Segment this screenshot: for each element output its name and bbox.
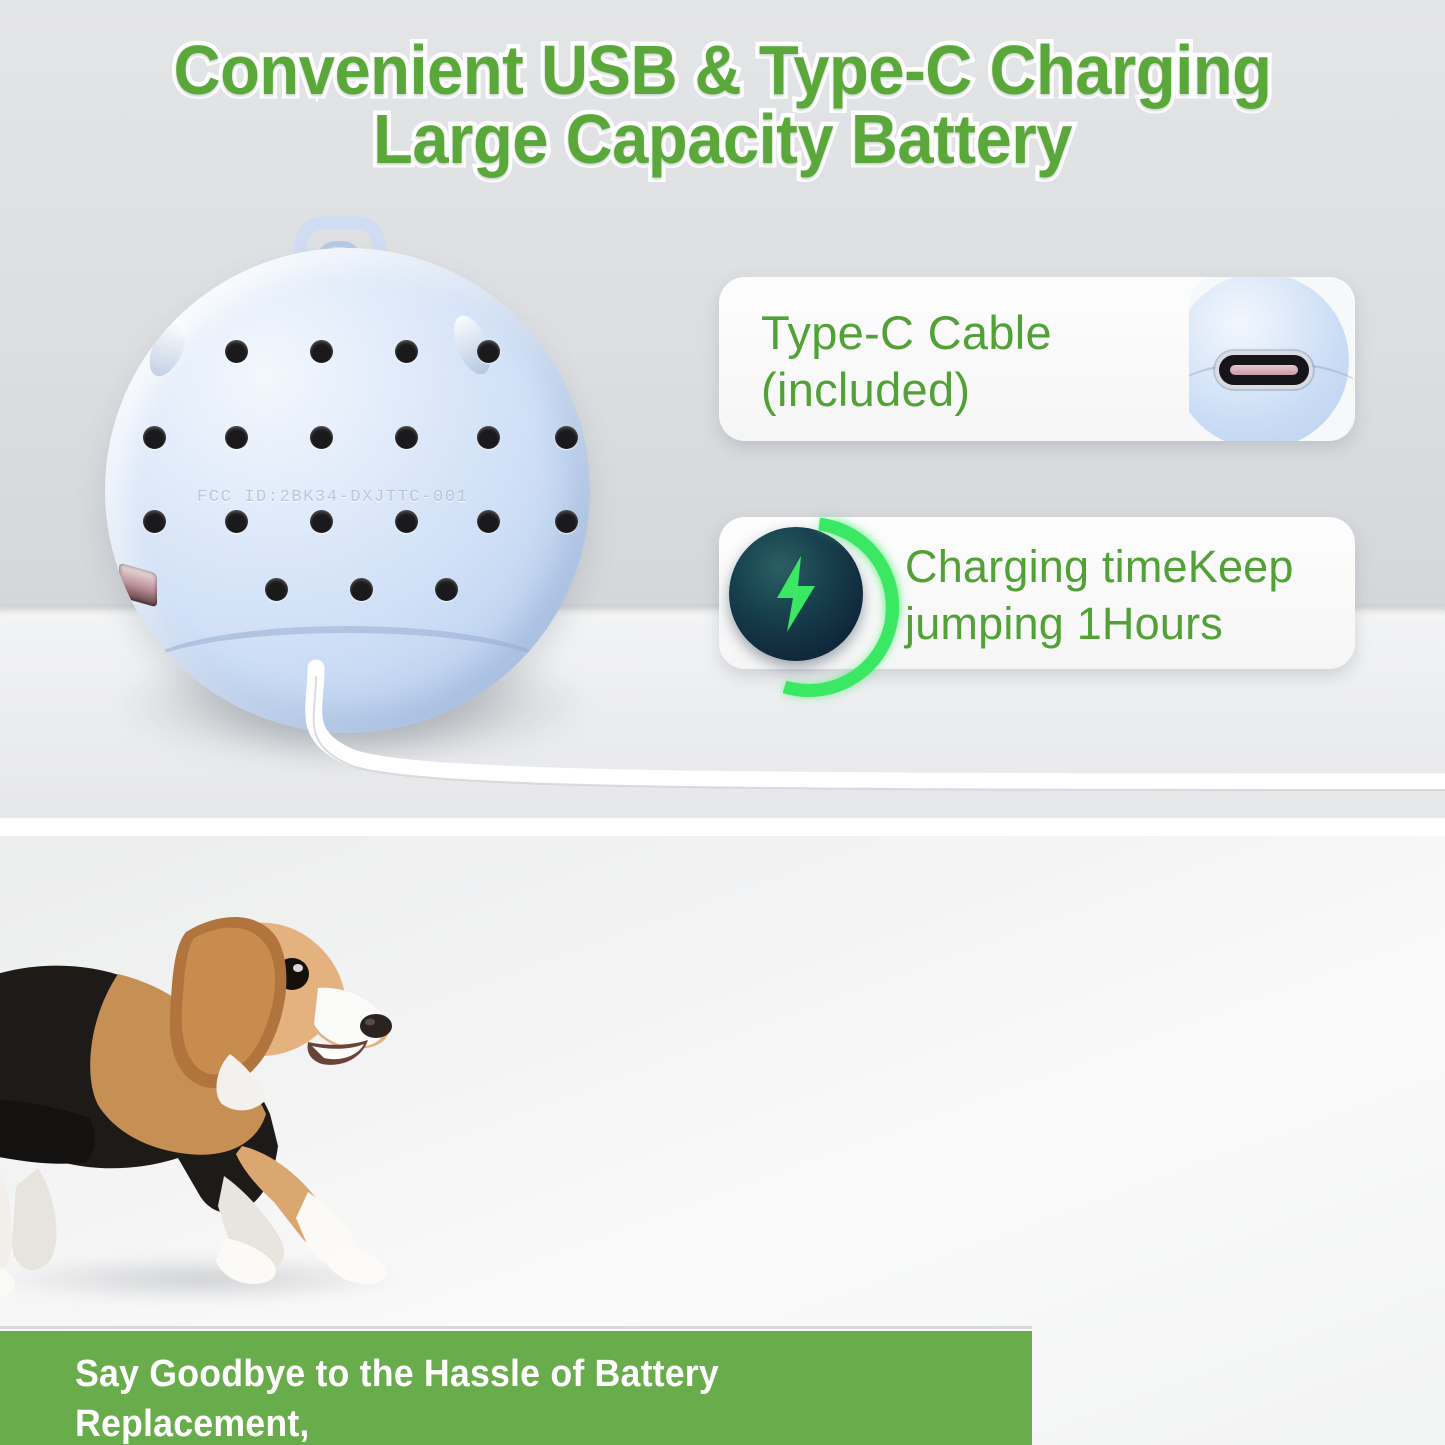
vent-hole [555, 426, 578, 449]
fcc-id-label: FCC ID:2BK34-DXJTTC-001 [197, 488, 468, 507]
charging-bolt-icon [711, 509, 881, 679]
charging-line-1: Charging timeKeep [905, 539, 1294, 596]
vent-hole [477, 510, 500, 533]
product-infographic: Convenient USB & Type-C Charging Large C… [0, 0, 1445, 1445]
beagle-dog-photo [0, 846, 448, 1326]
vent-hole [395, 510, 418, 533]
vent-hole [225, 340, 248, 363]
page-title: Convenient USB & Type-C Charging Large C… [51, 36, 1395, 173]
vent-hole [265, 578, 288, 601]
vent-hole [143, 426, 166, 449]
vent-hole [310, 510, 333, 533]
vent-hole [310, 426, 333, 449]
callout-type-c-cable: Type-C Cable (included) [719, 277, 1355, 441]
vent-hole [225, 426, 248, 449]
panel-divider [0, 818, 1445, 836]
usb-c-port-icon [1219, 355, 1309, 385]
bottom-banner: Say Goodbye to the Hassle of Battery Rep… [0, 1331, 1032, 1445]
vent-hole [395, 340, 418, 363]
type-c-port-closeup [1189, 277, 1353, 441]
side-port [119, 563, 157, 608]
callout-charging-time: Charging timeKeep jumping 1Hours [719, 517, 1355, 669]
vent-hole [477, 340, 500, 363]
title-line-1: Convenient USB & Type-C Charging [51, 36, 1395, 105]
top-panel: Convenient USB & Type-C Charging Large C… [0, 0, 1445, 818]
callout-charging-text: Charging timeKeep jumping 1Hours [905, 539, 1294, 652]
vent-hole [435, 578, 458, 601]
title-line-2: Large Capacity Battery [51, 105, 1395, 174]
vent-hole [477, 426, 500, 449]
type-c-line-1: Type-C Cable [761, 304, 1052, 361]
callout-type-c-text: Type-C Cable (included) [761, 304, 1052, 419]
bottom-banner-text: Say Goodbye to the Hassle of Battery Rep… [75, 1349, 949, 1445]
vent-hole [143, 510, 166, 533]
vent-hole [225, 510, 248, 533]
charging-line-2: jumping 1Hours [905, 596, 1294, 653]
vent-hole [555, 340, 578, 363]
type-c-line-2: (included) [761, 361, 1052, 418]
vent-hole [350, 578, 373, 601]
lightning-bolt-icon [773, 556, 819, 632]
vent-hole [310, 340, 333, 363]
vent-hole [395, 426, 418, 449]
banner-line-1: Say Goodbye to the Hassle of Battery Rep… [75, 1349, 949, 1445]
banner-top-rule [0, 1326, 1032, 1329]
vent-hole [555, 510, 578, 533]
seam-vent-left [142, 314, 194, 381]
